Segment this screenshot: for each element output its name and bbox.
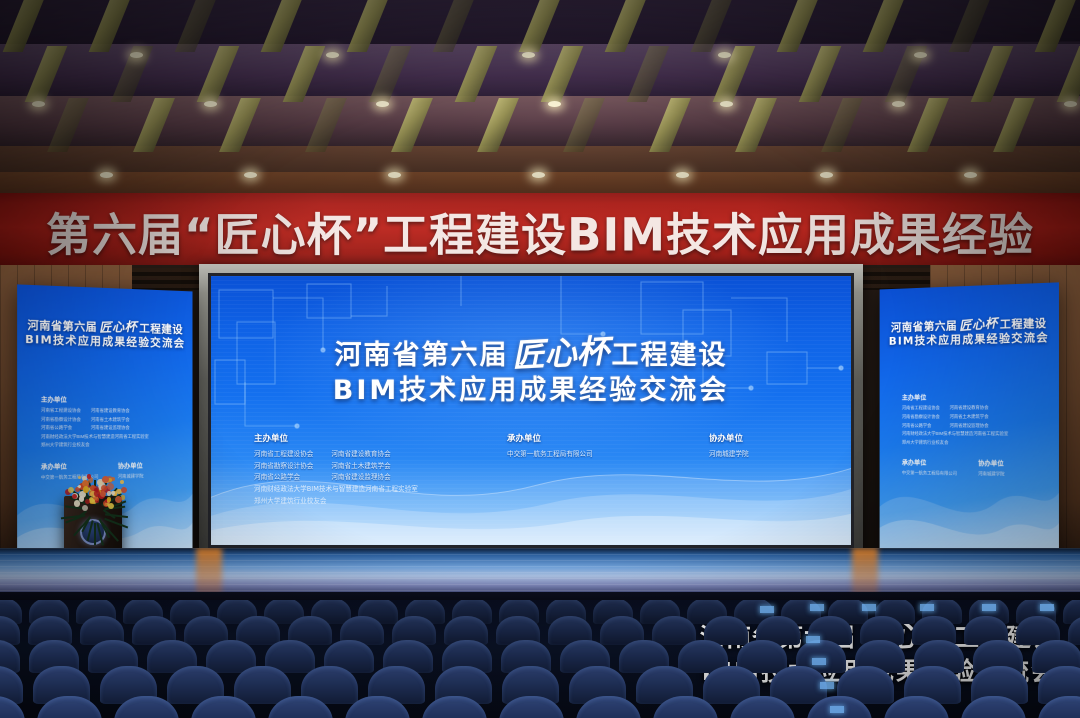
host-item: 河南省土木建筑学会 [331, 461, 390, 473]
host-heading: 主办单位 [254, 432, 493, 444]
undertaker-heading: 承办单位 [507, 432, 685, 444]
side-banner-right: 河南省第六届匠心杯工程建设 BIM技术应用成果经验交流会 主办单位 河南省工程建… [880, 282, 1059, 569]
led-title-pre: 河南省第六届 [335, 340, 509, 371]
panel-left-title-post: 工程建设 [139, 322, 183, 336]
panel-right-host-item: 河南省工程建设协会 [902, 405, 940, 414]
panel-right-title-pre: 河南省第六届 [891, 319, 957, 334]
panel-right-title-brush: 匠心杯 [957, 315, 1000, 335]
seat-monitor-glow [820, 682, 834, 689]
panel-left-host-item: 河南省建设教育协会 [91, 407, 130, 416]
panel-left-host-col1: 河南省工程建设协会 河南省勘察设计协会 河南省公路学会 [41, 407, 81, 433]
coorganizer-item: 河南城建学院 [709, 449, 845, 461]
floor-light-accent [196, 548, 222, 598]
panel-right-host-heading: 主办单位 [902, 392, 1046, 402]
host-item-wide: 郑州大学建筑行业校友会 [254, 496, 493, 508]
host-item: 河南省建设教育协会 [331, 449, 390, 461]
panel-left-host-item: 河南省建设监理协会 [91, 424, 130, 433]
panel-left-title: 河南省第六届匠心杯工程建设 BIM技术应用成果经验交流会 [17, 316, 192, 351]
panel-left-host-item: 河南省土木建筑学会 [91, 416, 130, 425]
led-title-brush: 匠心杯 [505, 332, 614, 378]
main-led-screen: 河南省第六届匠心杯工程建设 BIM技术应用成果经验交流会 主办单位 河南省工程建… [211, 276, 851, 545]
organizer-sections: 主办单位 河南省工程建设协会 河南省勘察设计协会 河南省公路学会 河南省建设教育… [211, 432, 851, 508]
floor-reflection [0, 548, 1080, 598]
panel-right-host-item: 河南省土木建筑学会 [950, 413, 989, 422]
undertaker-section: 承办单位 中交第一航务工程局有限公司 [499, 432, 691, 508]
screen-frame-inner: 河南省第六届匠心杯工程建设 BIM技术应用成果经验交流会 主办单位 河南省工程建… [208, 273, 854, 548]
panel-left-title-pre: 河南省第六届 [27, 319, 97, 334]
panel-right-co-item: 河南城建学院 [978, 470, 1004, 479]
host-item: 河南省公路学会 [254, 472, 313, 484]
flower-petal [78, 476, 81, 479]
panel-left-host-wide: 郑州大学建筑行业校友会 [41, 441, 181, 450]
flower-petal [102, 476, 109, 483]
coorganizer-heading: 协办单位 [709, 432, 845, 444]
flower-petal [68, 487, 74, 493]
flower-petal [100, 491, 106, 497]
panel-left-host-item: 河南省工程建设协会 [41, 407, 81, 416]
panel-right-undertaker: 承办单位 中交第一航务工程局有限公司 [902, 458, 978, 479]
flower-petal [120, 480, 124, 484]
red-banner-text: 第六届“匠心杯”工程建设BIM技术应用成果经验 [0, 198, 1080, 263]
coorganizer-section: 协办单位 河南城建学院 [691, 432, 851, 508]
flower-petal [79, 496, 85, 502]
flower-petal [107, 483, 114, 490]
host-item-wide: 河南财经政法大学BIM技术与智慧建造河南省工程实验室 [254, 484, 493, 496]
panel-left-host-col2: 河南省建设教育协会 河南省土木建筑学会 河南省建设监理协会 [91, 407, 130, 433]
panel-left-host-item: 河南省勘察设计协会 [41, 415, 81, 424]
foliage-spike [94, 522, 96, 544]
panel-right-title: 河南省第六届匠心杯工程建设 BIM技术应用成果经验交流会 [880, 314, 1059, 349]
panel-right-host-col1: 河南省工程建设协会 河南省勘察设计协会 河南省公路学会 [902, 405, 940, 431]
panel-right-coorganizer: 协办单位 河南城建学院 [978, 458, 1004, 479]
seat-monitor-glow [760, 606, 774, 613]
led-title: 河南省第六届匠心杯工程建设 BIM技术应用成果经验交流会 [211, 335, 851, 407]
panel-right-host-item: 河南省勘察设计协会 [902, 413, 940, 422]
panel-left-host-item: 河南省公路学会 [41, 424, 81, 433]
stage-floor [0, 548, 1080, 598]
red-banner: 第六届“匠心杯”工程建设BIM技术应用成果经验 [0, 193, 1080, 268]
flower-petal [107, 491, 111, 495]
led-title-line2: BIM技术应用成果经验交流会 [211, 374, 851, 407]
seat-monitor-glow [982, 604, 996, 611]
audience-seat [236, 616, 280, 645]
host-item: 河南省建设监理协会 [331, 472, 390, 484]
panel-right-under-heading: 承办单位 [902, 458, 978, 468]
flower-petal [101, 485, 107, 491]
seat-monitor-glow [830, 706, 844, 713]
panel-right-host-item: 河南省建设教育协会 [950, 404, 989, 413]
floor-light-accent [852, 548, 878, 598]
seat-monitor-glow [810, 604, 824, 611]
audience-seat [652, 616, 696, 645]
panel-right-host-wide: 郑州大学建筑行业校友会 [902, 438, 1046, 447]
host-section: 主办单位 河南省工程建设协会 河南省勘察设计协会 河南省公路学会 河南省建设教育… [211, 432, 499, 508]
panel-right-host-wide: 河南财经政法大学BIM技术与智慧建造河南省工程实验室 [902, 430, 1046, 439]
panel-left-host-heading: 主办单位 [41, 395, 181, 405]
flower-petal [82, 505, 88, 511]
host-column-2: 河南省建设教育协会 河南省土木建筑学会 河南省建设监理协会 [331, 449, 390, 484]
seat-monitor-glow [1040, 604, 1054, 611]
panel-right-host-col2: 河南省建设教育协会 河南省土木建筑学会 河南省建设监理协会 [950, 404, 989, 430]
host-item: 河南省工程建设协会 [254, 449, 313, 461]
seat-monitor-glow [812, 658, 826, 665]
host-column-1: 河南省工程建设协会 河南省勘察设计协会 河南省公路学会 [254, 449, 313, 484]
auditorium-stage-photo: 第六届“匠心杯”工程建设BIM技术应用成果经验 [0, 0, 1080, 718]
panel-right-under-item: 中交第一航务工程局有限公司 [902, 469, 978, 479]
seat-monitor-glow [862, 604, 876, 611]
panel-right-host-item: 河南省建设监理协会 [950, 422, 989, 431]
ceiling-shadow [0, 0, 1080, 196]
panel-left-co-heading: 协办单位 [118, 461, 144, 470]
seat-monitor-glow [806, 636, 820, 643]
panel-right-organizers: 主办单位 河南省工程建设协会 河南省勘察设计协会 河南省公路学会 河南省建设教育… [902, 392, 1046, 480]
seat-monitor-glow [920, 604, 934, 611]
led-title-post: 工程建设 [612, 340, 728, 371]
ceiling [0, 0, 1080, 196]
screen-frame: 河南省第六届匠心杯工程建设 BIM技术应用成果经验交流会 主办单位 河南省工程建… [199, 264, 863, 552]
undertaker-item: 中交第一航务工程局有限公司 [507, 449, 685, 461]
flower-petal [94, 490, 101, 497]
host-item: 河南省勘察设计协会 [254, 461, 313, 473]
panel-right-title-post: 工程建设 [1000, 316, 1047, 331]
panel-left-title-brush: 匠心杯 [97, 319, 140, 336]
flower-petal [121, 487, 127, 493]
panel-right-host-item: 河南省公路学会 [902, 422, 940, 431]
flower-arrangement [48, 470, 140, 516]
panel-right-co-heading: 协办单位 [978, 458, 1004, 467]
